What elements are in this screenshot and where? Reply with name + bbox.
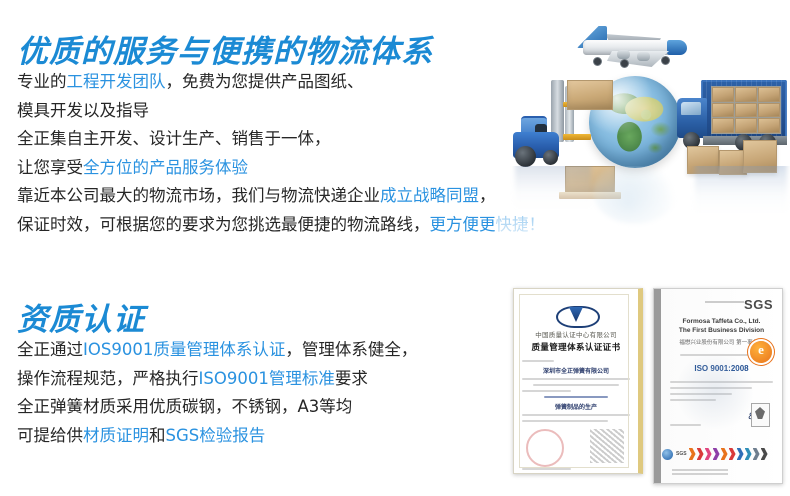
cardboard-box xyxy=(735,103,757,118)
chevron-mark xyxy=(729,448,736,460)
sgs-wordmark: SGS xyxy=(744,297,773,312)
forklift-wheel xyxy=(515,146,536,167)
certificate-gallery: 中国质量认证中心有限公司 质量管理体系认证证书 深圳市全正弹簧有限公司 弹簧制品… xyxy=(513,288,790,496)
ukas-logo-icon xyxy=(751,403,770,427)
text-run: 模具开发以及指导 xyxy=(17,101,149,120)
text-run: 和 xyxy=(149,426,166,445)
text-line: 全正集自主开发、设计生产、销售于一体， xyxy=(17,125,545,154)
cardboard-box xyxy=(565,166,615,194)
text-run: 靠近本公司最大的物流市场，我们与物流快递企业 xyxy=(17,186,380,205)
highlighted-phrase: IOS9001质量管理体系认证 xyxy=(83,340,285,359)
text-placeholder-line xyxy=(522,420,608,422)
text-run: 操作流程规范，严格执行 xyxy=(17,369,199,388)
chevron-mark xyxy=(697,448,704,460)
promotional-banner: 优质的服务与便携的物流体系 专业的工程开发团队，免费为您提供产品图纸、模具开发以… xyxy=(0,0,790,496)
cardboard-box xyxy=(743,140,777,173)
sgs-accreditation-marks: SGS xyxy=(662,447,776,461)
text-line: 让您享受全方位的产品服务体验 xyxy=(17,154,545,183)
chevron-mark xyxy=(689,448,696,460)
sgs-mini-wordmark: SGS xyxy=(676,451,687,457)
cardboard-box xyxy=(712,87,734,102)
cardboard-box xyxy=(758,118,780,133)
airplane-engine xyxy=(617,50,630,59)
cardboard-box xyxy=(687,146,719,174)
text-placeholder-line xyxy=(522,378,630,380)
highlighted-phrase: 材质证明 xyxy=(83,426,149,445)
cardboard-box xyxy=(758,103,780,118)
logistics-illustration xyxy=(495,18,790,256)
forklift-fork xyxy=(563,134,591,140)
signature-mark xyxy=(590,429,624,463)
reflection-fade xyxy=(495,166,790,254)
cardboard-box xyxy=(712,118,734,133)
highlighted-phrase: ISO9001管理标准 xyxy=(199,369,335,388)
red-round-seal xyxy=(526,429,564,467)
text-run: 让您享受 xyxy=(17,158,83,177)
cardboard-box xyxy=(735,87,757,102)
text-line: 专业的工程开发团队，免费为您提供产品图纸、 xyxy=(17,68,545,97)
text-run: 可提给供 xyxy=(17,426,83,445)
text-placeholder-line xyxy=(522,414,630,416)
illustration-reflection xyxy=(495,166,790,254)
text-placeholder-line xyxy=(522,390,571,392)
certificate-scope: 弹簧制品的生产 xyxy=(522,402,630,411)
text-run: 专业的 xyxy=(17,72,67,91)
text-run: 全正弹簧材质采用优质碳钢，不锈钢，A3等均 xyxy=(17,397,352,416)
certification-description: 全正通过IOS9001质量管理体系认证，管理体系健全，操作流程规范，严格执行IS… xyxy=(17,336,417,450)
text-placeholder-line xyxy=(533,384,619,386)
logistics-description: 专业的工程开发团队，免费为您提供产品图纸、模具开发以及指导全正集自主开发、设计生… xyxy=(17,68,545,239)
highlighted-phrase: 成立战略同盟 xyxy=(380,186,479,205)
cardboard-box xyxy=(735,118,757,133)
chevron-mark xyxy=(761,448,768,460)
chevron-mark xyxy=(753,448,760,460)
airplane-nose xyxy=(667,40,687,55)
certificate-title: 质量管理体系认证证书 xyxy=(522,341,630,353)
chevron-mark xyxy=(737,448,744,460)
airplane-wheel xyxy=(593,57,602,66)
text-placeholder-line xyxy=(522,360,554,362)
certificate-holder: 深圳市全正弹簧有限公司 xyxy=(522,366,630,375)
sgs-certified-badge-icon xyxy=(750,341,772,363)
text-run: ，免费为您提供产品图纸、 xyxy=(166,72,364,91)
certificate-issuer: 中国质量认证中心有限公司 xyxy=(522,329,630,339)
text-run: 全正通过 xyxy=(17,340,83,359)
text-run: ， xyxy=(479,186,496,205)
illustration-stage xyxy=(495,18,790,168)
certificate-watermark xyxy=(676,353,754,429)
text-line: 可提给供材质证明和SGS检验报告 xyxy=(17,422,417,451)
airplane-icon xyxy=(543,26,683,70)
airplane-wheel xyxy=(620,59,629,68)
chevron-mark xyxy=(745,448,752,460)
text-line: 保证时效，可根据您的要求为您挑选最便捷的物流路线，更方便更快捷！ xyxy=(17,211,545,240)
text-line: 靠近本公司最大的物流市场，我们与物流快递企业成立战略同盟， xyxy=(17,182,545,211)
text-line: 操作流程规范，严格执行ISO9001管理标准要求 xyxy=(17,365,417,394)
cardboard-box xyxy=(567,80,613,110)
certificate-seals xyxy=(522,428,630,468)
container-cargo xyxy=(711,86,781,134)
cqc-emblem-icon xyxy=(556,304,596,326)
text-run: 要求 xyxy=(335,369,368,388)
sgs-company-name: Formosa Taffeta Co., Ltd. The First Busi… xyxy=(670,317,773,335)
text-run: ，管理体系健全， xyxy=(285,340,417,359)
forklift-icon xyxy=(513,80,591,168)
sgs-certificate-image[interactable]: SGS Formosa Taffeta Co., Ltd. The First … xyxy=(653,288,783,484)
certification-section-heading: 资质认证 xyxy=(17,303,145,337)
cardboard-boxes-icon xyxy=(687,136,783,176)
wooden-pallet xyxy=(559,192,621,199)
text-placeholder-line xyxy=(544,396,609,398)
text-line: 全正弹簧材质采用优质碳钢，不锈钢，A3等均 xyxy=(17,393,417,422)
text-run: 全正集自主开发、设计生产、销售于一体， xyxy=(17,129,331,148)
certificate-fineprint xyxy=(672,467,728,475)
forklift-wheel xyxy=(543,150,558,165)
text-placeholder-line xyxy=(522,468,571,470)
logistics-section-heading: 优质的服务与便携的物流体系 xyxy=(17,35,433,69)
text-run: 保证时效，可根据您的要求为您挑选最便捷的物流路线， xyxy=(17,215,430,234)
chevron-mark xyxy=(721,448,728,460)
highlighted-phrase: SGS检验报告 xyxy=(166,426,266,445)
cardboard-box xyxy=(758,87,780,102)
chevron-mark xyxy=(713,448,720,460)
iso-quality-certificate-image[interactable]: 中国质量认证中心有限公司 质量管理体系认证证书 深圳市全正弹簧有限公司 弹簧制品… xyxy=(513,288,643,474)
highlighted-phrase: 工程开发团队 xyxy=(67,72,166,91)
text-line: 全正通过IOS9001质量管理体系认证，管理体系健全， xyxy=(17,336,417,365)
cardboard-box xyxy=(712,103,734,118)
airplane-engine xyxy=(637,52,650,61)
text-line: 模具开发以及指导 xyxy=(17,97,545,126)
text-placeholder-line xyxy=(705,301,744,303)
airplane-wheel xyxy=(661,56,670,65)
highlighted-phrase: 全方位的产品服务体验 xyxy=(83,158,248,177)
globe-mark-icon xyxy=(662,449,673,460)
chevron-mark xyxy=(705,448,712,460)
truck-windshield xyxy=(681,102,701,115)
